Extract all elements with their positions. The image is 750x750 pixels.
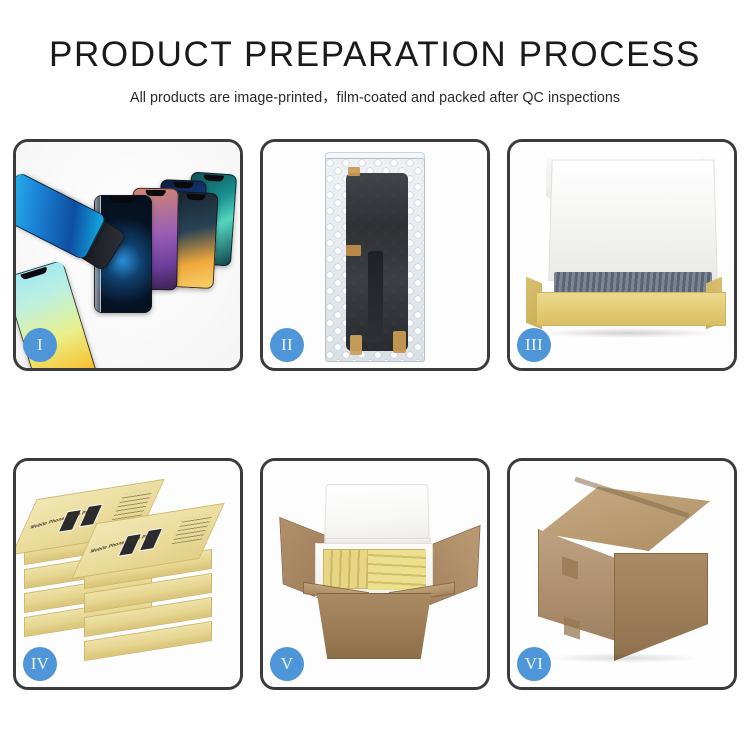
box-spec-lines-front bbox=[172, 514, 214, 545]
step-badge-5: V bbox=[270, 647, 304, 681]
step-badge-6: VI bbox=[517, 647, 551, 681]
tape-piece-middle bbox=[346, 245, 361, 256]
process-step-panel-4[interactable]: Mobile Phone Spare Parts Mobile Phone Sp… bbox=[13, 458, 243, 690]
connector-left bbox=[350, 335, 362, 355]
box-shadow bbox=[538, 328, 718, 338]
box-stack: Mobile Phone Spare Parts Mobile Phone Sp… bbox=[22, 479, 240, 679]
process-step-panel-6[interactable]: VI bbox=[507, 458, 737, 690]
step-badge-4: IV bbox=[23, 647, 57, 681]
step-badge-1: I bbox=[23, 328, 57, 362]
process-step-panel-5[interactable]: V bbox=[260, 458, 490, 690]
foam-lid bbox=[548, 160, 718, 281]
carton-front bbox=[309, 593, 439, 659]
process-step-panel-2[interactable]: II bbox=[260, 139, 490, 371]
kraft-box-front bbox=[536, 292, 726, 326]
bubble-wrap-bag bbox=[325, 158, 425, 362]
carton-tape-lower bbox=[564, 616, 580, 639]
step-badge-2: II bbox=[270, 328, 304, 362]
page-subtitle: All products are image-printed，film-coat… bbox=[0, 86, 750, 107]
process-step-panel-1[interactable]: I bbox=[13, 139, 243, 371]
product-preparation-page: PRODUCT PREPARATION PROCESS All products… bbox=[0, 0, 750, 750]
carton-shadow bbox=[544, 653, 704, 663]
screen-flex-cable bbox=[368, 251, 383, 343]
process-step-panel-3[interactable]: III bbox=[507, 139, 737, 371]
page-title: PRODUCT PREPARATION PROCESS bbox=[0, 36, 750, 75]
connector-right bbox=[393, 331, 406, 353]
page-header: PRODUCT PREPARATION PROCESS All products… bbox=[0, 36, 750, 107]
step-badge-3: III bbox=[517, 328, 551, 362]
tape-piece-top bbox=[348, 167, 360, 176]
yellow-boxes-inside bbox=[323, 549, 425, 589]
foam-box-lid bbox=[324, 484, 430, 545]
carton-right-face bbox=[614, 553, 708, 661]
process-steps-grid: I II bbox=[13, 139, 737, 690]
